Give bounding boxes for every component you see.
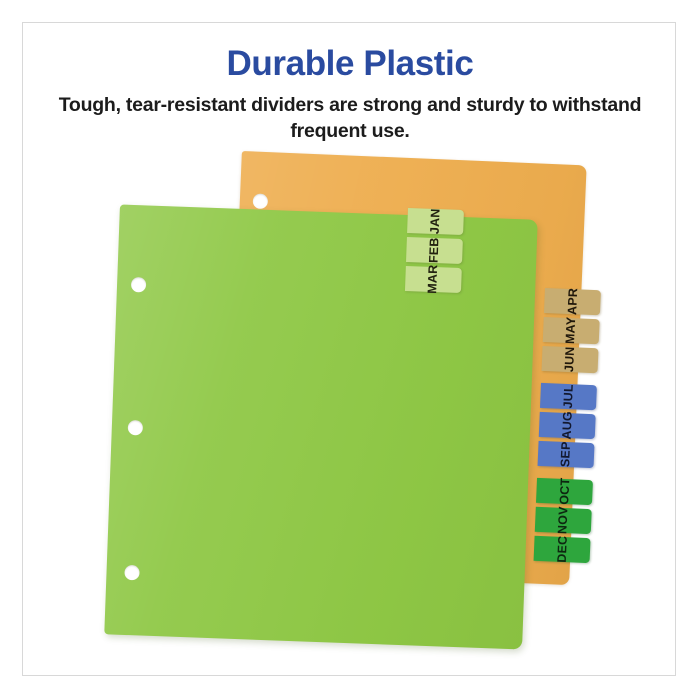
tab-label: DEC bbox=[555, 536, 569, 563]
tab-apr[interactable]: APR bbox=[544, 288, 601, 315]
tab-label: JUN bbox=[563, 347, 577, 373]
tab-mar[interactable]: MAR bbox=[405, 266, 462, 293]
tab-label: FEB bbox=[428, 237, 441, 263]
tab-label: SEP bbox=[559, 441, 573, 467]
tab-feb[interactable]: FEB bbox=[406, 237, 463, 264]
tab-aug[interactable]: AUG bbox=[539, 412, 596, 439]
divider-sheet-green bbox=[104, 204, 537, 649]
tab-sep[interactable]: SEP bbox=[538, 441, 595, 468]
tab-dec[interactable]: DEC bbox=[534, 536, 591, 563]
tab-label: JUL bbox=[562, 384, 576, 409]
tab-jul[interactable]: JUL bbox=[540, 383, 597, 410]
tab-label: APR bbox=[566, 288, 580, 315]
tab-jun[interactable]: JUN bbox=[542, 346, 599, 373]
tab-label: NOV bbox=[556, 506, 570, 534]
product-feature-card: Durable Plastic Tough, tear-resistant di… bbox=[0, 0, 700, 700]
tab-label: AUG bbox=[560, 411, 574, 440]
tab-may[interactable]: MAY bbox=[543, 317, 600, 344]
tab-label: JAN bbox=[429, 208, 442, 234]
tab-jan[interactable]: JAN bbox=[407, 208, 464, 235]
sheet-shading-green bbox=[104, 204, 537, 649]
product-image: APR MAY JUN JUL AUG SEP OCT NOV bbox=[0, 0, 700, 700]
tab-nov[interactable]: NOV bbox=[535, 507, 592, 534]
tab-label: MAY bbox=[564, 317, 578, 345]
tab-label: OCT bbox=[558, 478, 572, 505]
tab-label: MAR bbox=[427, 265, 441, 295]
tab-oct[interactable]: OCT bbox=[536, 478, 593, 505]
